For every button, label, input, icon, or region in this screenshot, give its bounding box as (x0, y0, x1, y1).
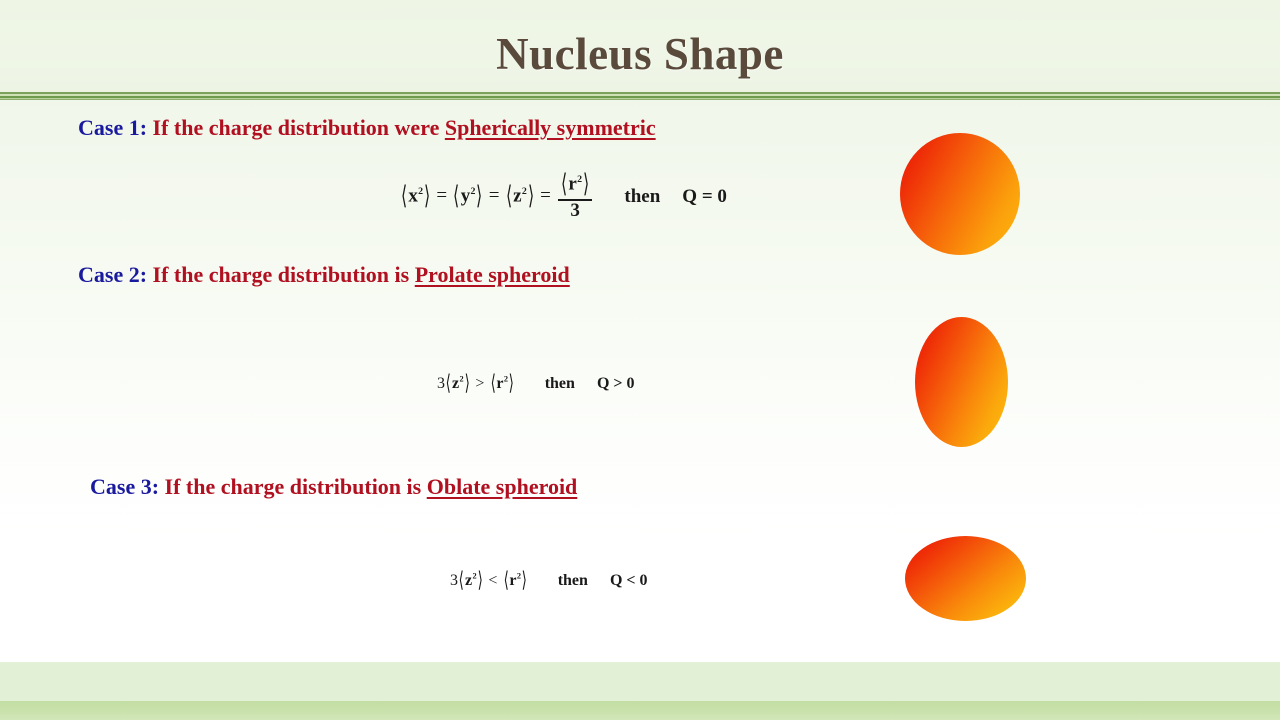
page-title: Nucleus Shape (0, 28, 1280, 80)
slide-canvas: Nucleus Shape Case 1: If the charge dist… (0, 0, 1280, 720)
case-1-label: Case 1 (78, 115, 140, 140)
case-3-coefficient: 3 (450, 572, 458, 589)
slide-header: Nucleus Shape (0, 0, 1280, 93)
case-2-result: Q > 0 (597, 375, 635, 393)
case-1-result: Q = 0 (682, 186, 727, 208)
divider-line-5 (0, 99, 1280, 100)
case-3-heading: Case 3: If the charge distribution is Ob… (90, 476, 577, 498)
case-1-separator: : (140, 115, 147, 140)
case-3-emphasis: Oblate spheroid (427, 474, 578, 499)
case-3-label: Case 3 (90, 474, 152, 499)
case-1-var-x: x (408, 185, 418, 206)
header-divider (0, 92, 1280, 101)
sphere-illustration (900, 133, 1020, 255)
case-3-then-word: then (558, 572, 588, 590)
case-2-label: Case 2 (78, 262, 140, 287)
case-1-formula: ⟨x2⟩=⟨y2⟩=⟨z2⟩=⟨r2⟩3 then Q = 0 (400, 172, 727, 221)
case-2-relation: > (475, 375, 484, 392)
case-2-text: If the charge distribution is (147, 262, 415, 287)
case-1-formula-expression: ⟨x2⟩=⟨y2⟩=⟨z2⟩=⟨r2⟩3 (400, 172, 594, 221)
case-2-then-word: then (545, 375, 575, 393)
case-2-emphasis: Prolate spheroid (415, 262, 570, 287)
case-3-right-var: r (509, 572, 516, 589)
case-2-formula-expression: 3⟨z2⟩>⟨r2⟩ (437, 371, 515, 396)
case-1-text: If the charge distribution were (147, 115, 445, 140)
case-1-fraction: ⟨r2⟩3 (558, 171, 592, 220)
case-1-var-z: z (513, 185, 522, 206)
case-1-heading: Case 1: If the charge distribution were … (78, 117, 656, 139)
case-2-formula: 3⟨z2⟩>⟨r2⟩ then Q > 0 (437, 371, 635, 396)
prolate-spheroid-illustration (915, 317, 1008, 447)
case-1-numerator-var: r (568, 173, 577, 194)
case-2-right-var: r (496, 375, 503, 392)
case-3-text: If the charge distribution is (159, 474, 427, 499)
case-3-result: Q < 0 (610, 572, 648, 590)
case-3-formula: 3⟨z2⟩<⟨r2⟩ then Q < 0 (450, 568, 648, 593)
case-3-formula-expression: 3⟨z2⟩<⟨r2⟩ (450, 568, 528, 593)
footer-band-light (0, 662, 1280, 702)
case-3-separator: : (152, 474, 159, 499)
case-3-relation: < (488, 572, 497, 589)
case-1-then-word: then (624, 186, 660, 208)
case-2-coefficient: 3 (437, 375, 445, 392)
case-1-denominator: 3 (568, 201, 582, 221)
footer-band-dark (0, 701, 1280, 720)
case-1-emphasis: Spherically symmetric (445, 115, 656, 140)
case-2-heading: Case 2: If the charge distribution is Pr… (78, 264, 570, 286)
case-2-separator: : (140, 262, 147, 287)
case-1-var-y: y (461, 185, 471, 206)
oblate-spheroid-illustration (905, 536, 1026, 621)
